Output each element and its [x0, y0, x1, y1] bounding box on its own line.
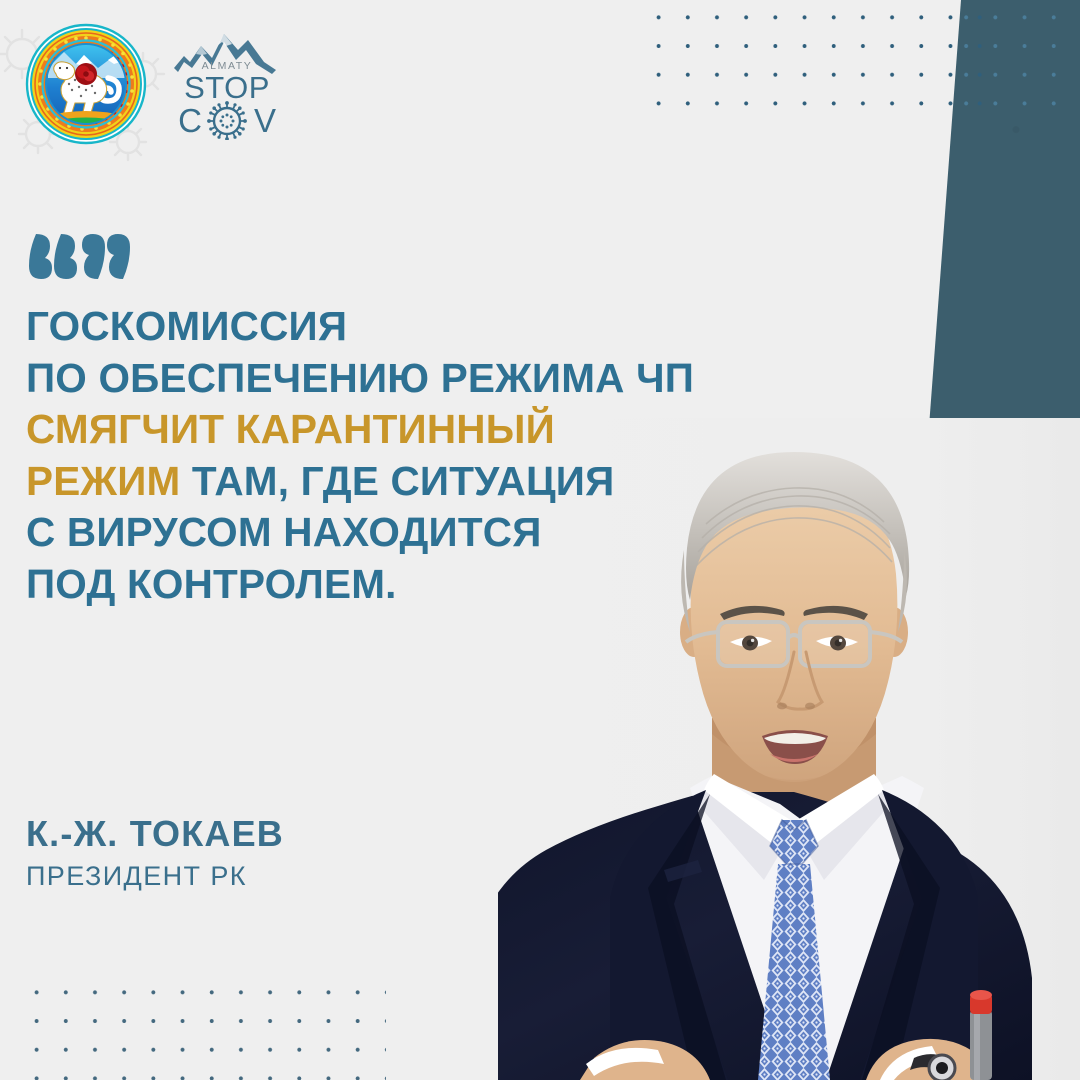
quote-line-2: ПО ОБЕСПЕЧЕНИЮ РЕЖИМА ЧП [26, 353, 876, 405]
quote-block: ГОСКОМИССИЯ ПО ОБЕСПЕЧЕНИЮ РЕЖИМА ЧП СМЯ… [26, 232, 876, 610]
author-name: К.-Ж. ТОКАЕВ [26, 812, 586, 856]
svg-text:STOP: STOP [184, 70, 270, 105]
quote-text: ГОСКОМИССИЯ ПО ОБЕСПЕЧЕНИЮ РЕЖИМА ЧП СМЯ… [26, 301, 876, 610]
quote-line-6: ПОД КОНТРОЛЕМ. [26, 559, 876, 611]
almaty-stop-cov-logo-icon: ALMATY STOP C V [168, 24, 286, 140]
quotation-mark-icon [26, 232, 146, 288]
dot-grid-top-right [640, 0, 1000, 110]
author-role: ПРЕЗИДЕНТ РК [26, 858, 586, 894]
svg-text:C: C [178, 102, 202, 139]
panel-dot-grid [880, 0, 1080, 110]
svg-text:V: V [254, 102, 276, 139]
quote-line-4-gold: РЕЖИМ [26, 458, 180, 504]
header-logos: ALMATY STOP C V [0, 0, 320, 160]
attribution-block: К.-Ж. ТОКАЕВ ПРЕЗИДЕНТ РК [26, 812, 586, 894]
quote-line-3: СМЯГЧИТ КАРАНТИННЫЙ [26, 404, 876, 456]
quote-line-4-blue: ТАМ, ГДЕ СИТУАЦИЯ [180, 458, 614, 504]
quote-line-4: РЕЖИМ ТАМ, ГДЕ СИТУАЦИЯ [26, 456, 876, 508]
dot-grid-bottom-left [14, 972, 386, 1080]
almaty-city-emblem-icon [24, 22, 148, 146]
quote-line-5: С ВИРУСОМ НАХОДИТСЯ [26, 507, 876, 559]
quote-card: ALMATY STOP C V [0, 0, 1080, 1080]
quote-line-1: ГОСКОМИССИЯ [26, 301, 876, 353]
